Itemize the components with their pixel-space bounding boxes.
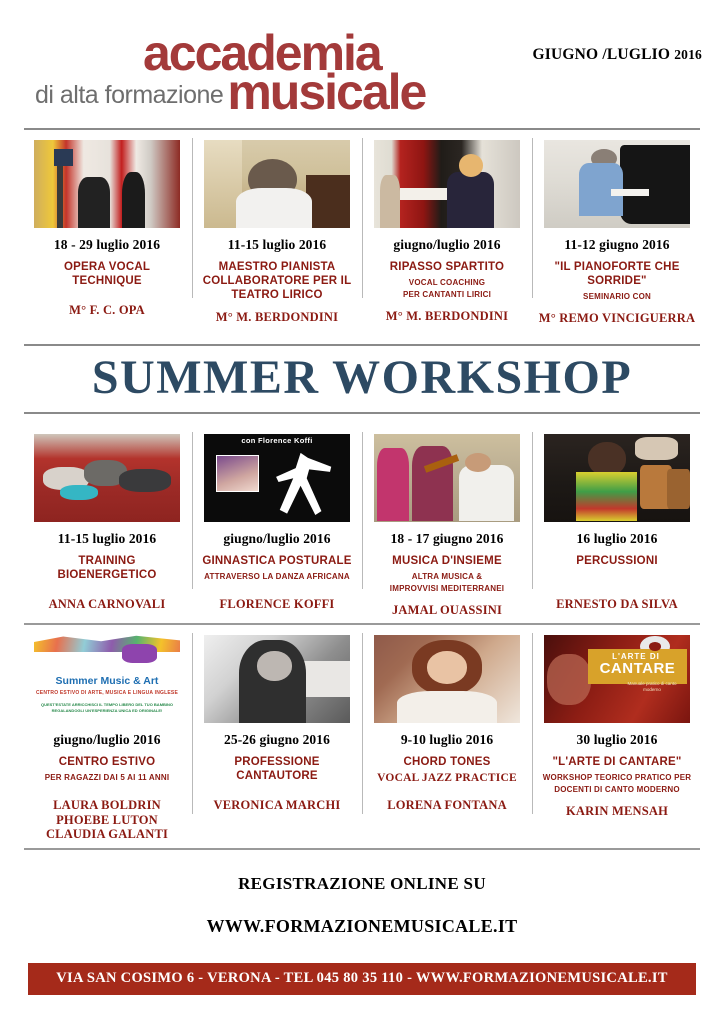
workshop-title: MUSICA D'INSIEME	[368, 554, 526, 568]
workshop-title-line: MUSICA D'INSIEME	[368, 554, 526, 568]
card-text: giugno/luglio 2016 GINNASTICA POSTURALE …	[198, 531, 356, 589]
workshop-subtitle-line: VOCAL COACHING	[368, 277, 526, 289]
workshop-subtitle: WORKSHOP TEORICO PRATICO PER DOCENTI DI …	[538, 772, 696, 796]
workshop-card-maestro-pianista[interactable]: 11-15 luglio 2016 MAESTRO PIANISTA COLLA…	[192, 130, 362, 332]
flyer-title: Summer Music & Art	[34, 675, 180, 687]
workshop-title: "IL PIANOFORTE CHE SORRIDE"	[538, 260, 696, 288]
workshop-card-professione-cantautore[interactable]: 25-26 giugno 2016 PROFESSIONE CANTAUTORE…	[192, 625, 362, 848]
workshop-subtitle-line: WORKSHOP TEORICO PRATICO PER	[538, 772, 696, 784]
workshop-date: giugno/luglio 2016	[198, 531, 356, 547]
maestro-pianista-photo	[204, 140, 350, 228]
workshop-title: GINNASTICA POSTURALE	[198, 554, 356, 568]
centro-estivo-flyer: Summer Music & Art CENTRO ESTIVO DI ARTE…	[34, 635, 180, 723]
workshop-title-line: RIPASSO SPARTITO	[368, 260, 526, 274]
card-text: 18 - 17 giugno 2016 MUSICA D'INSIEME ALT…	[368, 531, 526, 595]
registration-label: REGISTRAZIONE ONLINE SU	[0, 874, 724, 894]
workshop-teacher: ERNESTO DA SILVA	[538, 597, 696, 612]
workshop-card-ginnastica-posturale[interactable]: con Florence Koffi giugno/luglio 2016 GI…	[192, 424, 362, 624]
issue-period: GIUGNO /LUGLIO 2016	[533, 46, 702, 64]
workshop-subtitle: PER RAGAZZI DAI 5 AI 11 ANNI	[28, 772, 186, 784]
card-text: 30 luglio 2016 "L'ARTE DI CANTARE" WORKS…	[538, 732, 696, 796]
workshop-title: PROFESSIONE CANTAUTORE	[198, 755, 356, 783]
workshop-date: 30 luglio 2016	[538, 732, 696, 748]
workshop-title-line: TRAINING	[28, 554, 186, 568]
workshop-card-il-pianoforte-che-sorride[interactable]: 11-12 giugno 2016 "IL PIANOFORTE CHE SOR…	[532, 130, 702, 332]
training-bioenergetico-photo	[34, 434, 180, 522]
card-text: 11-15 luglio 2016 MAESTRO PIANISTA COLLA…	[198, 237, 356, 302]
card-text: 11-15 luglio 2016 TRAINING BIOENERGETICO	[28, 531, 186, 589]
workshop-row-2: 11-15 luglio 2016 TRAINING BIOENERGETICO…	[0, 424, 724, 624]
workshop-title-line: "IL PIANOFORTE CHE	[538, 260, 696, 274]
poster-footer: REGISTRAZIONE ONLINE SU WWW.FORMAZIONEMU…	[0, 850, 724, 995]
card-text: 9-10 luglio 2016 CHORD TONES VOCAL JAZZ …	[368, 732, 526, 790]
card-text: 11-12 giugno 2016 "IL PIANOFORTE CHE SOR…	[538, 237, 696, 303]
workshop-date: 9-10 luglio 2016	[368, 732, 526, 748]
workshop-teacher-line: JAMAL OUASSINI	[368, 603, 526, 618]
workshop-teacher: LORENA FONTANA	[368, 798, 526, 813]
workshop-teacher: VERONICA MARCHI	[198, 798, 356, 813]
workshop-date: 18 - 17 giugno 2016	[368, 531, 526, 547]
workshop-subtitle-line: ALTRA MUSICA &	[368, 571, 526, 583]
workshop-title-line: CHORD TONES	[368, 755, 526, 769]
workshop-title: CHORD TONES	[368, 755, 526, 769]
workshop-teacher-line: PHOEBE LUTON	[28, 813, 186, 828]
workshop-teacher: M° F. C. OPA	[28, 303, 186, 318]
poster-page: accademia di alta formazionemusicale GIU…	[0, 0, 724, 1024]
workshop-title: PERCUSSIONI	[538, 554, 696, 568]
workshop-title-line: "L'ARTE DI CANTARE"	[538, 755, 696, 769]
workshop-date: 11-12 giugno 2016	[538, 237, 696, 253]
workshop-teacher: FLORENCE KOFFI	[198, 597, 356, 612]
workshop-date: 25-26 giugno 2016	[198, 732, 356, 748]
workshop-title: OPERA VOCAL TECHNIQUE	[28, 260, 186, 288]
workshop-title-line: BIOENERGETICO	[28, 568, 186, 582]
workshop-date: 11-15 luglio 2016	[198, 237, 356, 253]
workshop-subtitle-line: SEMINARIO CON	[538, 291, 696, 303]
workshop-teacher-line: LORENA FONTANA	[368, 798, 526, 813]
workshop-card-opera-vocal-technique[interactable]: 18 - 29 luglio 2016 OPERA VOCAL TECHNIQU…	[22, 130, 192, 332]
workshop-teacher-line: ERNESTO DA SILVA	[538, 597, 696, 612]
workshop-title-line: PROFESSIONE	[198, 755, 356, 769]
workshop-subtitle-line: PER RAGAZZI DAI 5 AI 11 ANNI	[28, 772, 186, 784]
logo-word-musicale: musicale	[227, 64, 425, 120]
workshop-row-3: Summer Music & Art CENTRO ESTIVO DI ARTE…	[0, 625, 724, 848]
logo-subline: di alta formazionemusicale	[35, 72, 425, 115]
workshop-teacher-line: M° M. BERDONDINI	[198, 310, 356, 325]
accademia-logo: accademia di alta formazionemusicale	[35, 30, 465, 118]
card-text: 25-26 giugno 2016 PROFESSIONE CANTAUTORE	[198, 732, 356, 790]
workshop-subtitle-line: ATTRAVERSO LA DANZA AFRICANA	[198, 571, 356, 583]
workshop-teacher-line: M° F. C. OPA	[28, 303, 186, 318]
card-text: giugno/luglio 2016 CENTRO ESTIVO PER RAG…	[28, 732, 186, 790]
workshop-date: 11-15 luglio 2016	[28, 531, 186, 547]
workshop-title-line: MAESTRO PIANISTA	[198, 260, 356, 274]
poster-caption: con Florence Koffi	[204, 436, 350, 445]
workshop-title: CENTRO ESTIVO	[28, 755, 186, 769]
workshop-subtitle-line: DOCENTI DI CANTO MODERNO	[538, 784, 696, 796]
workshop-card-training-bioenergetico[interactable]: 11-15 luglio 2016 TRAINING BIOENERGETICO…	[22, 424, 192, 624]
workshop-teacher-line: M° REMO VINCIGUERRA	[538, 311, 696, 326]
workshop-date: 16 luglio 2016	[538, 531, 696, 547]
workshop-title-line: PERCUSSIONI	[538, 554, 696, 568]
workshop-teacher-line: FLORENCE KOFFI	[198, 597, 356, 612]
issue-period-year: 2016	[674, 47, 702, 62]
workshop-card-percussioni[interactable]: 16 luglio 2016 PERCUSSIONI ERNESTO DA SI…	[532, 424, 702, 624]
workshop-subtitle: SEMINARIO CON	[538, 291, 696, 303]
workshop-title: MAESTRO PIANISTA COLLABORATORE PER IL TE…	[198, 260, 356, 302]
summer-workshop-banner: SUMMER WORKSHOP	[24, 344, 700, 414]
larte-di-cantare-book-cover: L'ARTE DI CANTARE Manuale pratico di can…	[544, 635, 690, 723]
book-subtitle: Manuale pratico di canto moderno	[620, 681, 684, 693]
professione-cantautore-photo	[204, 635, 350, 723]
chord-tones-photo	[374, 635, 520, 723]
workshop-teacher: M° M. BERDONDINI	[198, 310, 356, 325]
workshop-teacher: ANNA CARNOVALI	[28, 597, 186, 612]
workshop-title-line: OPERA VOCAL	[28, 260, 186, 274]
poster-header: accademia di alta formazionemusicale GIU…	[0, 0, 724, 128]
ginnastica-posturale-poster: con Florence Koffi	[204, 434, 350, 522]
banner-title: SUMMER WORKSHOP	[24, 352, 700, 404]
workshop-teacher-line: M° M. BERDONDINI	[368, 309, 526, 324]
workshop-title-line: COLLABORATORE PER IL	[198, 274, 356, 288]
workshop-teacher-line: KARIN MENSAH	[538, 804, 696, 819]
workshop-subtitle: VOCAL COACHING PER CANTANTI LIRICI	[368, 277, 526, 301]
workshop-subtitle: VOCAL JAZZ PRACTICE	[368, 772, 526, 784]
workshop-date: giugno/luglio 2016	[368, 237, 526, 253]
workshop-date: giugno/luglio 2016	[28, 732, 186, 748]
workshop-subtitle: ALTRA MUSICA & IMPROVVISI MEDITERRANEI	[368, 571, 526, 595]
card-text: 18 - 29 luglio 2016 OPERA VOCAL TECHNIQU…	[28, 237, 186, 295]
card-text: giugno/luglio 2016 RIPASSO SPARTITO VOCA…	[368, 237, 526, 301]
workshop-card-centro-estivo[interactable]: Summer Music & Art CENTRO ESTIVO DI ARTE…	[22, 625, 192, 848]
workshop-subtitle: ATTRAVERSO LA DANZA AFRICANA	[198, 571, 356, 583]
percussioni-photo	[544, 434, 690, 522]
book-title-line2: CANTARE	[591, 661, 684, 677]
workshop-title-line: SORRIDE"	[538, 274, 696, 288]
workshop-subtitle-line: IMPROVVISI MEDITERRANEI	[368, 583, 526, 595]
logo-words-di-alta-formazione: di alta formazione	[35, 81, 223, 109]
workshop-teacher: M° M. BERDONDINI	[368, 309, 526, 324]
workshop-card-ripasso-spartito[interactable]: giugno/luglio 2016 RIPASSO SPARTITO VOCA…	[362, 130, 532, 332]
workshop-title-line: GINNASTICA POSTURALE	[198, 554, 356, 568]
workshop-teacher: KARIN MENSAH	[538, 804, 696, 819]
ripasso-spartito-photo	[374, 140, 520, 228]
workshop-card-larte-di-cantare[interactable]: L'ARTE DI CANTARE Manuale pratico di can…	[532, 625, 702, 848]
workshop-teacher-line: VERONICA MARCHI	[198, 798, 356, 813]
registration-url[interactable]: WWW.FORMAZIONEMUSICALE.IT	[0, 916, 724, 937]
workshop-teacher-line: CLAUDIA GALANTI	[28, 827, 186, 842]
workshop-teacher: JAMAL OUASSINI	[368, 603, 526, 618]
workshop-title-line: TEATRO LIRICO	[198, 288, 356, 302]
issue-period-months: GIUGNO /LUGLIO	[533, 46, 671, 63]
workshop-title-line: CENTRO ESTIVO	[28, 755, 186, 769]
workshop-title: "L'ARTE DI CANTARE"	[538, 755, 696, 769]
workshop-subtitle-line: VOCAL JAZZ PRACTICE	[368, 772, 526, 784]
workshop-teacher: M° REMO VINCIGUERRA	[538, 311, 696, 326]
workshop-title: RIPASSO SPARTITO	[368, 260, 526, 274]
flyer-subtitle: CENTRO ESTIVO DI ARTE, MUSICA E LINGUA I…	[34, 690, 180, 696]
workshop-teacher: LAURA BOLDRIN PHOEBE LUTON CLAUDIA GALAN…	[28, 798, 186, 842]
musica-dinsieme-photo	[374, 434, 520, 522]
flyer-tagline: QUEST'ESTATE ARRICCHISCI IL TEMPO LIBERO…	[34, 702, 180, 714]
address-bar: VIA SAN COSIMO 6 - VERONA - TEL 045 80 3…	[28, 963, 696, 995]
workshop-teacher-line: ANNA CARNOVALI	[28, 597, 186, 612]
workshop-title-line: TECHNIQUE	[28, 274, 186, 288]
workshop-row-1: 18 - 29 luglio 2016 OPERA VOCAL TECHNIQU…	[0, 130, 724, 332]
workshop-card-chord-tones[interactable]: 9-10 luglio 2016 CHORD TONES VOCAL JAZZ …	[362, 625, 532, 848]
workshop-teacher-line: LAURA BOLDRIN	[28, 798, 186, 813]
workshop-card-musica-dinsieme[interactable]: 18 - 17 giugno 2016 MUSICA D'INSIEME ALT…	[362, 424, 532, 624]
workshop-subtitle-line: PER CANTANTI LIRICI	[368, 289, 526, 301]
workshop-title-line: CANTAUTORE	[198, 769, 356, 783]
opera-vocal-technique-photo	[34, 140, 180, 228]
workshop-date: 18 - 29 luglio 2016	[28, 237, 186, 253]
workshop-title: TRAINING BIOENERGETICO	[28, 554, 186, 582]
card-text: 16 luglio 2016 PERCUSSIONI	[538, 531, 696, 589]
il-pianoforte-che-sorride-photo	[544, 140, 690, 228]
